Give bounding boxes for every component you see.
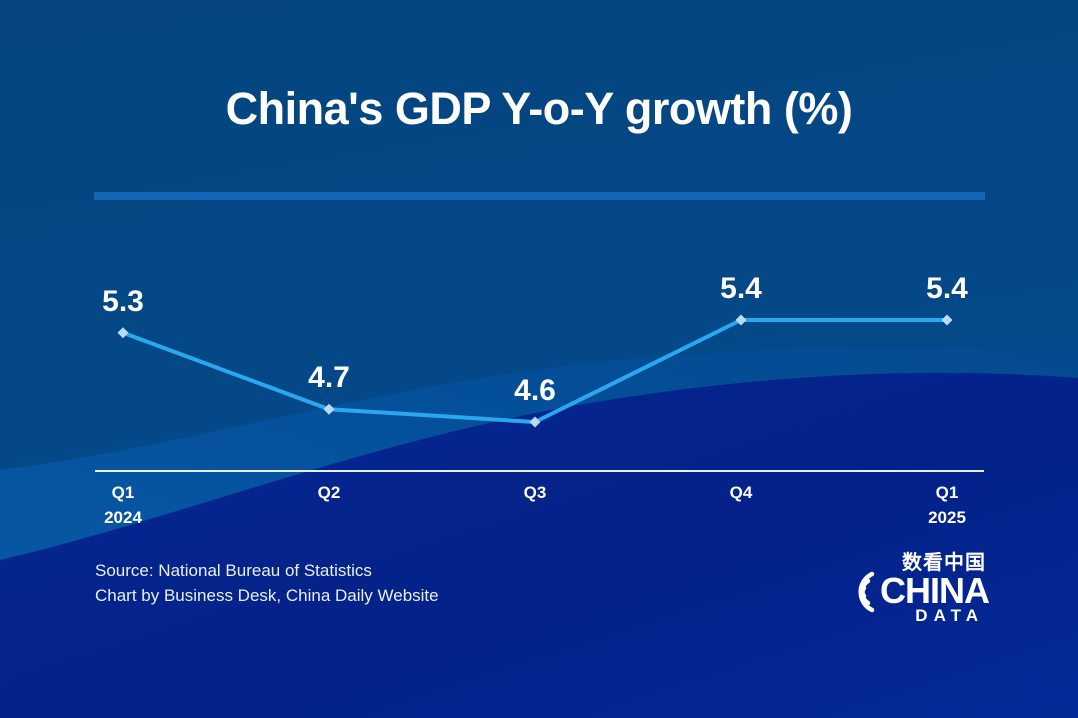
china-data-logo: 数看中国 CHINA DATA	[838, 552, 986, 630]
data-point-value: 4.6	[514, 374, 556, 408]
x-tick-label: Q12024	[104, 480, 142, 530]
signal-arcs-icon	[838, 568, 878, 616]
data-point-value: 4.7	[308, 361, 350, 395]
logo-data-text: DATA	[915, 606, 984, 625]
data-point-value: 5.4	[720, 272, 762, 306]
x-tick-label: Q4	[730, 480, 753, 505]
x-tick-label: Q2	[318, 480, 341, 505]
x-axis-line	[95, 470, 984, 472]
data-point-marker	[324, 404, 335, 415]
data-point-marker	[942, 315, 953, 326]
data-point-value: 5.3	[102, 285, 144, 319]
series-markers	[118, 315, 953, 428]
data-point-marker	[118, 327, 129, 338]
source-line-1: Source: National Bureau of Statistics	[95, 558, 439, 583]
source-line-2: Chart by Business Desk, China Daily Webs…	[95, 583, 439, 608]
data-point-value: 5.4	[926, 272, 968, 306]
x-tick-label: Q3	[524, 480, 547, 505]
infographic-canvas: China's GDP Y-o-Y growth (%) 5.34.74.65.…	[0, 0, 1078, 718]
logo-china-text: CHINA	[880, 572, 989, 610]
source-credit: Source: National Bureau of Statistics Ch…	[95, 558, 439, 608]
x-tick-label: Q12025	[928, 480, 966, 530]
